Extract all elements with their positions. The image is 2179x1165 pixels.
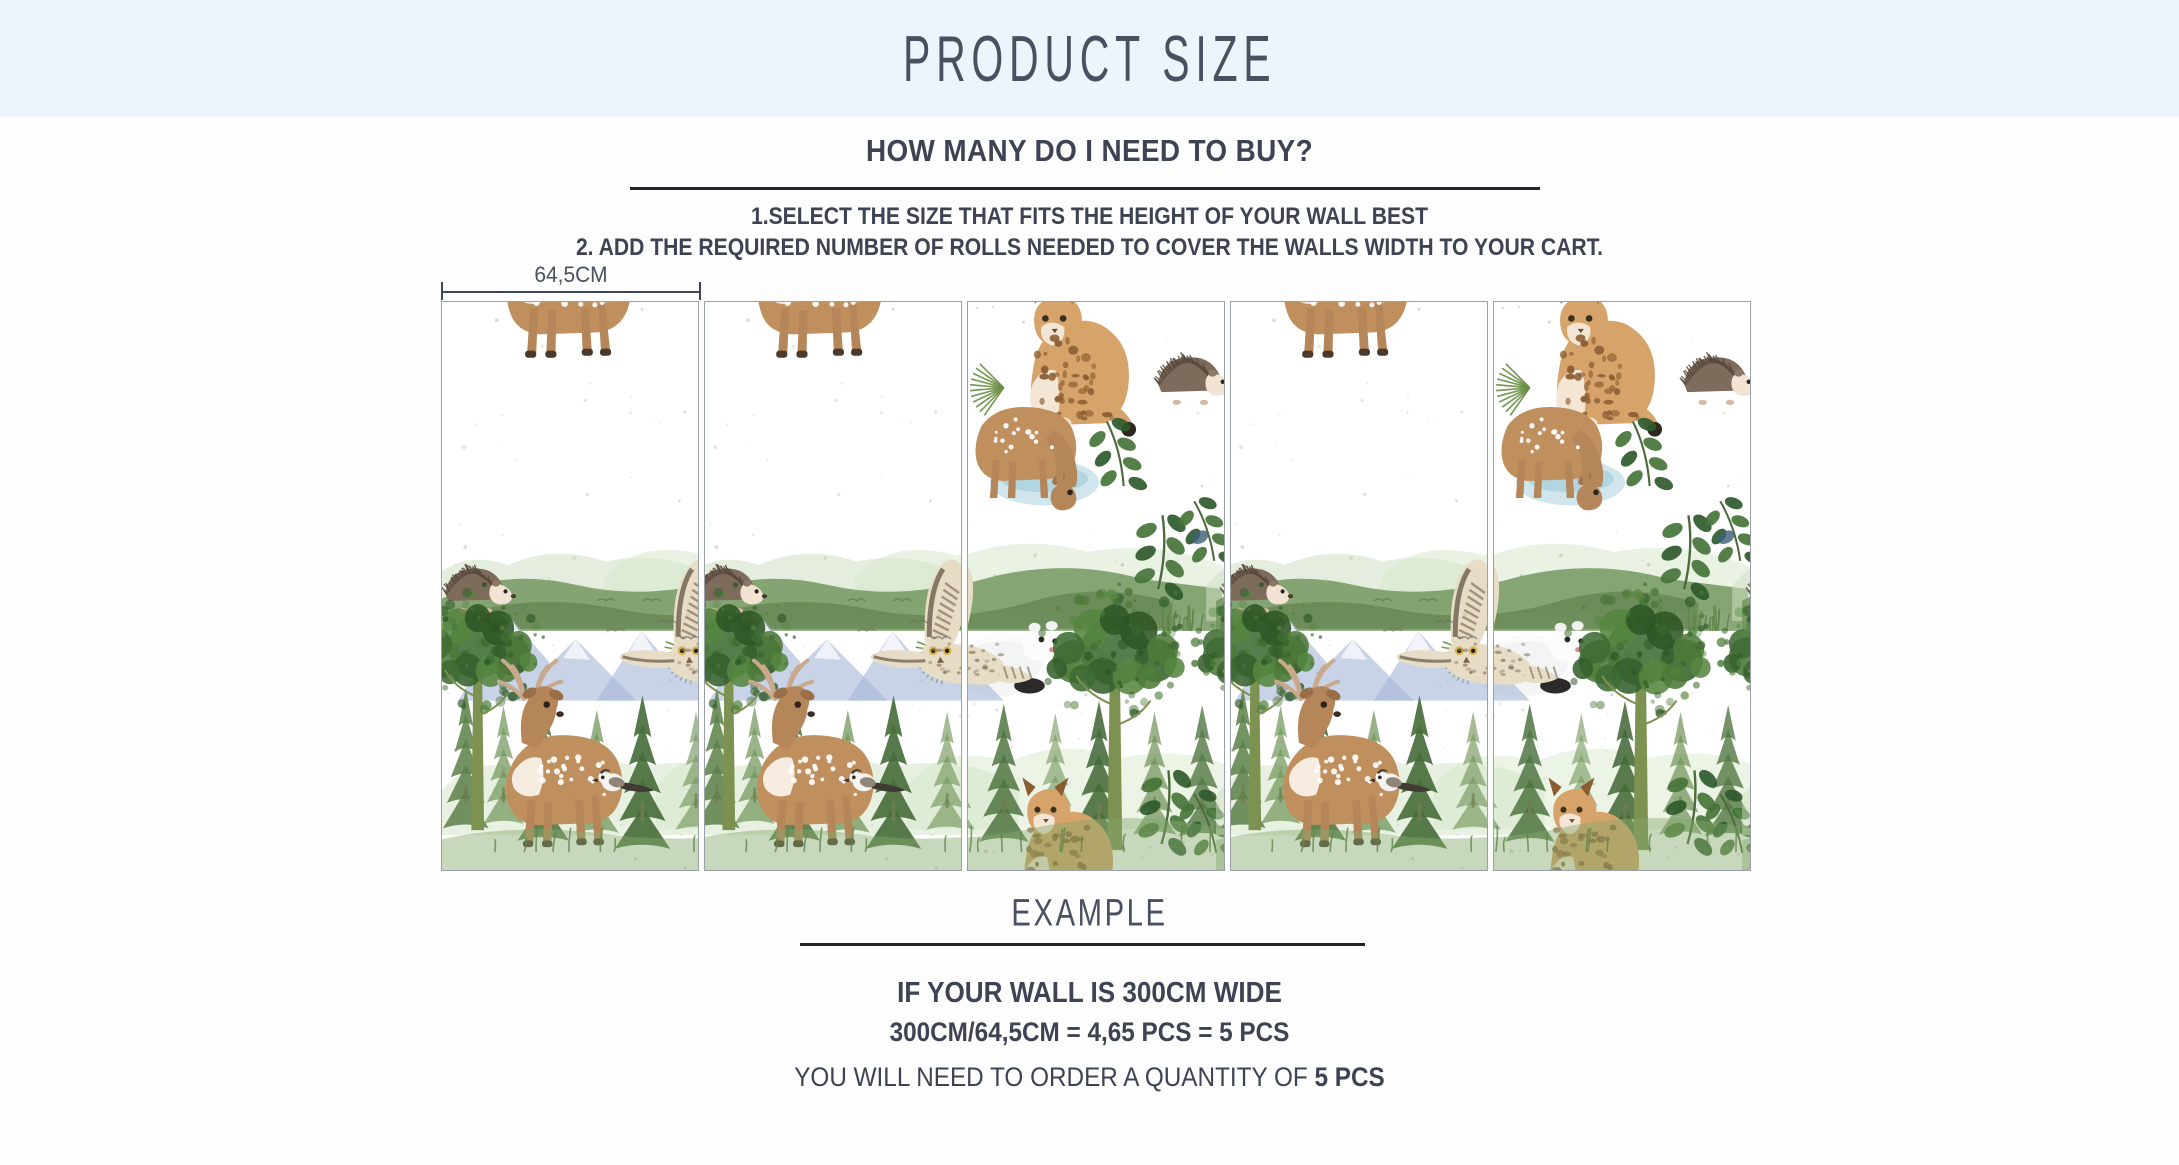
wallpaper-panel-4[interactable] [1230,301,1488,871]
heading-divider [630,187,1540,190]
dimension-label: 64,5CM [448,262,695,288]
dimension-tick-left [441,282,443,300]
wallpaper-panel-strip [441,301,1751,871]
dimension-line [441,291,701,293]
example-line-2: 300CM/64,5CM = 4,65 PCS = 5 PCS [109,1017,2070,1048]
example-divider [800,943,1365,946]
page-title: PRODUCT SIZE [903,21,1276,96]
example-line-1: IF YOUR WALL IS 300CM WIDE [109,977,2070,1010]
wallpaper-panel-3[interactable] [967,301,1225,871]
wallpaper-panel-2[interactable] [704,301,962,871]
example-line-3-prefix: YOU WILL NEED TO ORDER A QUANTITY OF [794,1062,1314,1092]
dimension-tick-right [699,282,701,300]
instruction-line-1: 1.SELECT THE SIZE THAT FITS THE HEIGHT O… [131,203,2049,231]
dimension-indicator: 64,5CM [441,262,701,294]
wallpaper-panel-5[interactable] [1493,301,1751,871]
header-band: PRODUCT SIZE [0,0,2179,117]
instruction-line-2: 2. ADD THE REQUIRED NUMBER OF ROLLS NEED… [131,234,2049,262]
example-title: EXAMPLE [153,892,2027,936]
example-quantity-value: 5 PCS [1315,1062,1385,1092]
example-line-3: YOU WILL NEED TO ORDER A QUANTITY OF 5 P… [109,1062,2070,1093]
section-heading: HOW MANY DO I NEED TO BUY? [109,133,2070,169]
wallpaper-panel-1[interactable] [441,301,699,871]
